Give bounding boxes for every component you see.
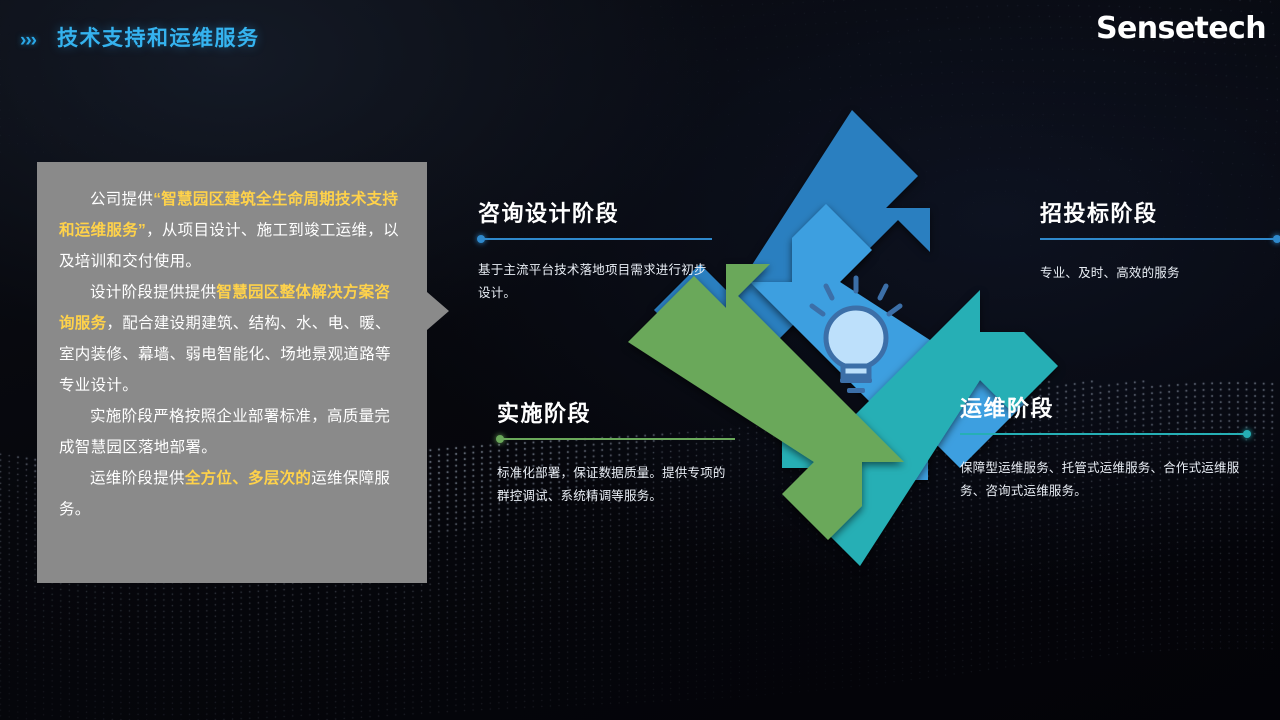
body-text: 运维阶段提供 xyxy=(90,470,185,487)
description-paragraph: 运维阶段提供全方位、多层次的运维保障服务。 xyxy=(59,463,403,525)
stage-rule xyxy=(478,238,712,240)
body-text: 设计阶段提供提供 xyxy=(90,284,216,301)
stage-title: 运维阶段 xyxy=(960,398,1250,420)
highlighted-text: 全方位、多层次的 xyxy=(185,470,311,487)
description-panel: 公司提供“智慧园区建筑全生命周期技术支持和运维服务”，从项目设计、施工到竣工运维… xyxy=(37,162,427,583)
stage-description: 保障型运维服务、托管式运维服务、合作式运维服务、咨询式运维服务。 xyxy=(960,457,1250,503)
stage-implementation[interactable]: 实施阶段 标准化部署，保证数据质量。提供专项的群控调试、系统精调等服务。 xyxy=(497,403,735,508)
stage-rule-line xyxy=(478,238,712,240)
stage-title: 招投标阶段 xyxy=(1040,203,1280,225)
stage-description: 专业、及时、高效的服务 xyxy=(1040,262,1280,285)
stage-rule-dot xyxy=(477,235,485,243)
description-paragraph: 设计阶段提供提供智慧园区整体解决方案咨询服务，配合建设期建筑、结构、水、电、暖、… xyxy=(59,277,403,401)
stage-rule-line xyxy=(960,433,1250,435)
description-paragraph: 实施阶段严格按照企业部署标准，高质量完成智慧园区落地部署。 xyxy=(59,401,403,463)
stage-rule-dot xyxy=(1273,235,1280,243)
brand-logo: Sensetech xyxy=(1096,11,1266,46)
stage-title: 实施阶段 xyxy=(497,403,735,425)
body-text: 实施阶段严格按照企业部署标准，高质量完成智慧园区落地部署。 xyxy=(59,408,390,456)
slide-canvas: ››› 技术支持和运维服务 Sensetech 公司提供“智慧园区建筑全生命周期… xyxy=(0,0,1280,720)
stage-rule xyxy=(960,433,1250,435)
stage-rule xyxy=(1040,238,1280,240)
stage-description: 标准化部署，保证数据质量。提供专项的群控调试、系统精调等服务。 xyxy=(497,462,735,508)
description-paragraph: 公司提供“智慧园区建筑全生命周期技术支持和运维服务”，从项目设计、施工到竣工运维… xyxy=(59,184,403,277)
stage-bidding[interactable]: 招投标阶段 专业、及时、高效的服务 xyxy=(1040,203,1280,285)
stage-rule-dot xyxy=(496,435,504,443)
chevron-right-icon: ››› xyxy=(20,31,36,50)
stage-rule-line xyxy=(1040,238,1280,240)
page-title: 技术支持和运维服务 xyxy=(57,28,260,49)
description-panel-body: 公司提供“智慧园区建筑全生命周期技术支持和运维服务”，从项目设计、施工到竣工运维… xyxy=(37,162,427,525)
stage-description: 基于主流平台技术落地项目需求进行初步设计。 xyxy=(478,259,712,305)
slide-header: ››› 技术支持和运维服务 Sensetech xyxy=(0,0,1280,62)
stage-rule-line xyxy=(497,438,735,440)
panel-pointer-triangle xyxy=(427,292,449,330)
stage-rule-dot xyxy=(1243,430,1251,438)
stage-consulting-design[interactable]: 咨询设计阶段 基于主流平台技术落地项目需求进行初步设计。 xyxy=(478,203,712,305)
stage-operations-maintenance[interactable]: 运维阶段 保障型运维服务、托管式运维服务、合作式运维服务、咨询式运维服务。 xyxy=(960,398,1250,503)
stage-rule xyxy=(497,438,735,440)
stage-title: 咨询设计阶段 xyxy=(478,203,712,225)
body-text: ，配合建设期建筑、结构、水、电、暖、室内装修、幕墙、弱电智能化、场地景观道路等专… xyxy=(59,315,391,394)
body-text: 公司提供 xyxy=(90,191,153,208)
